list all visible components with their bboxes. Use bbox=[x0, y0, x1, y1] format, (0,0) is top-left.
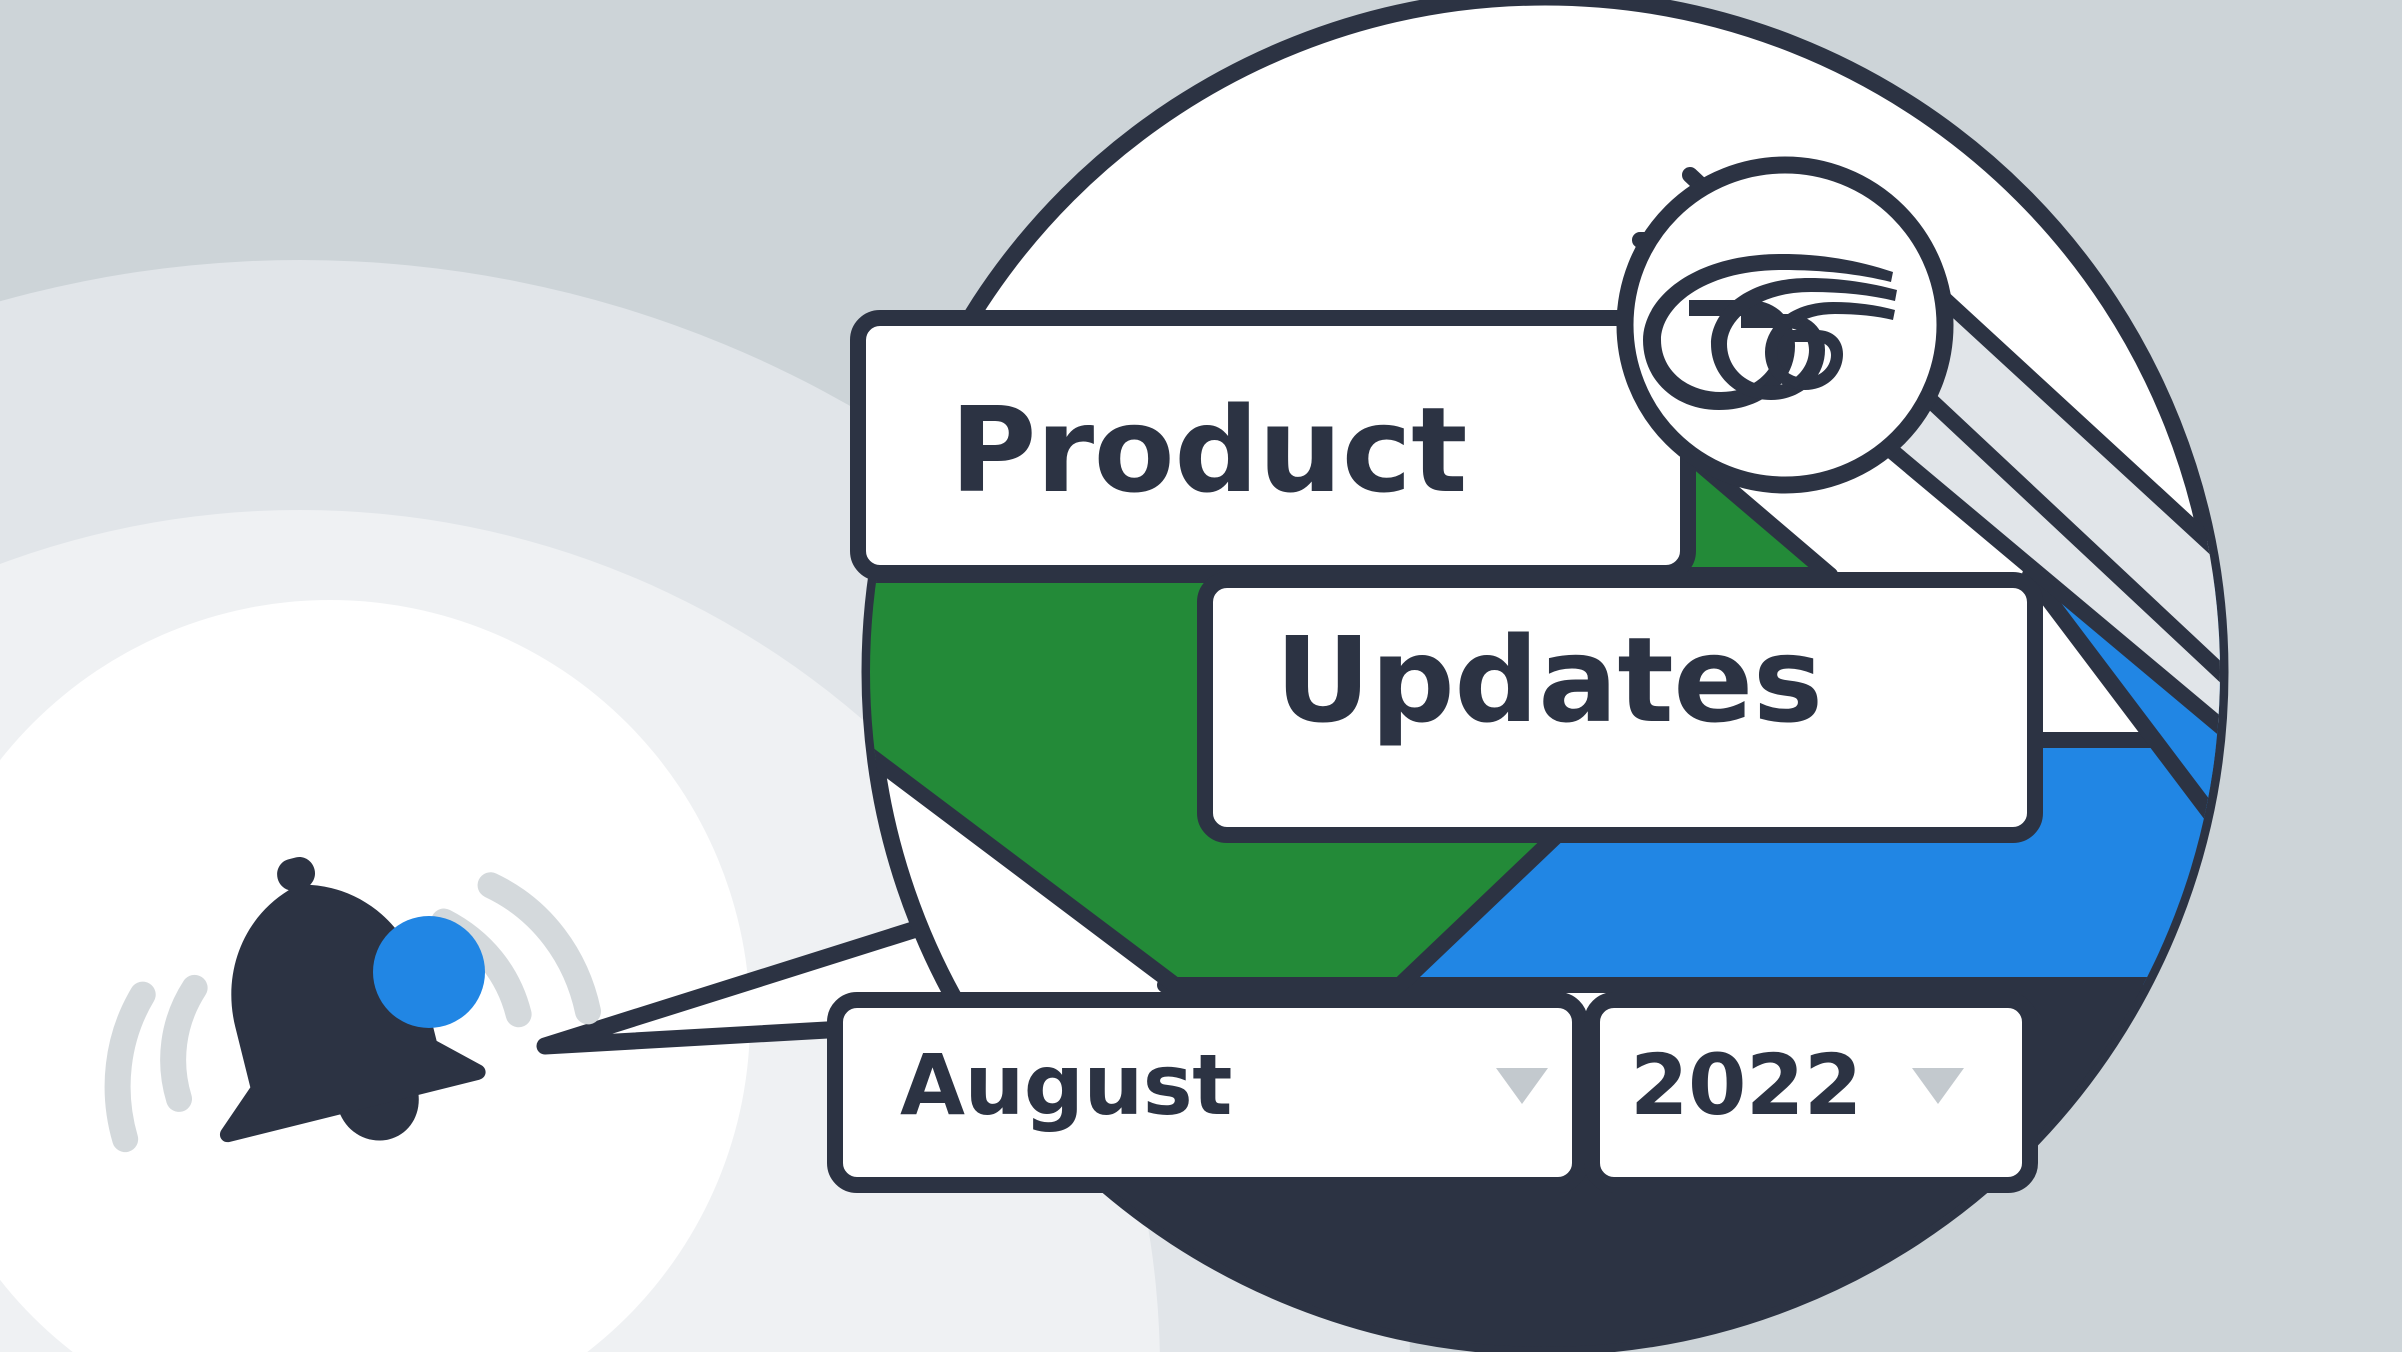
chevron-down-icon[interactable] bbox=[1496, 1068, 1548, 1104]
month-select-value[interactable]: August bbox=[900, 1030, 1330, 1140]
year-select-value[interactable]: 2022 bbox=[1630, 1030, 1930, 1140]
logo-badge bbox=[1625, 165, 1945, 485]
banner-artwork bbox=[0, 0, 2402, 1352]
notification-dot-icon bbox=[373, 916, 485, 1028]
page-title-line-2: Updates bbox=[1275, 615, 1975, 745]
product-updates-banner: Product Updates August 2022 bbox=[0, 0, 2402, 1352]
chevron-down-icon[interactable] bbox=[1912, 1068, 1964, 1104]
page-title-line-1: Product bbox=[950, 385, 1590, 515]
